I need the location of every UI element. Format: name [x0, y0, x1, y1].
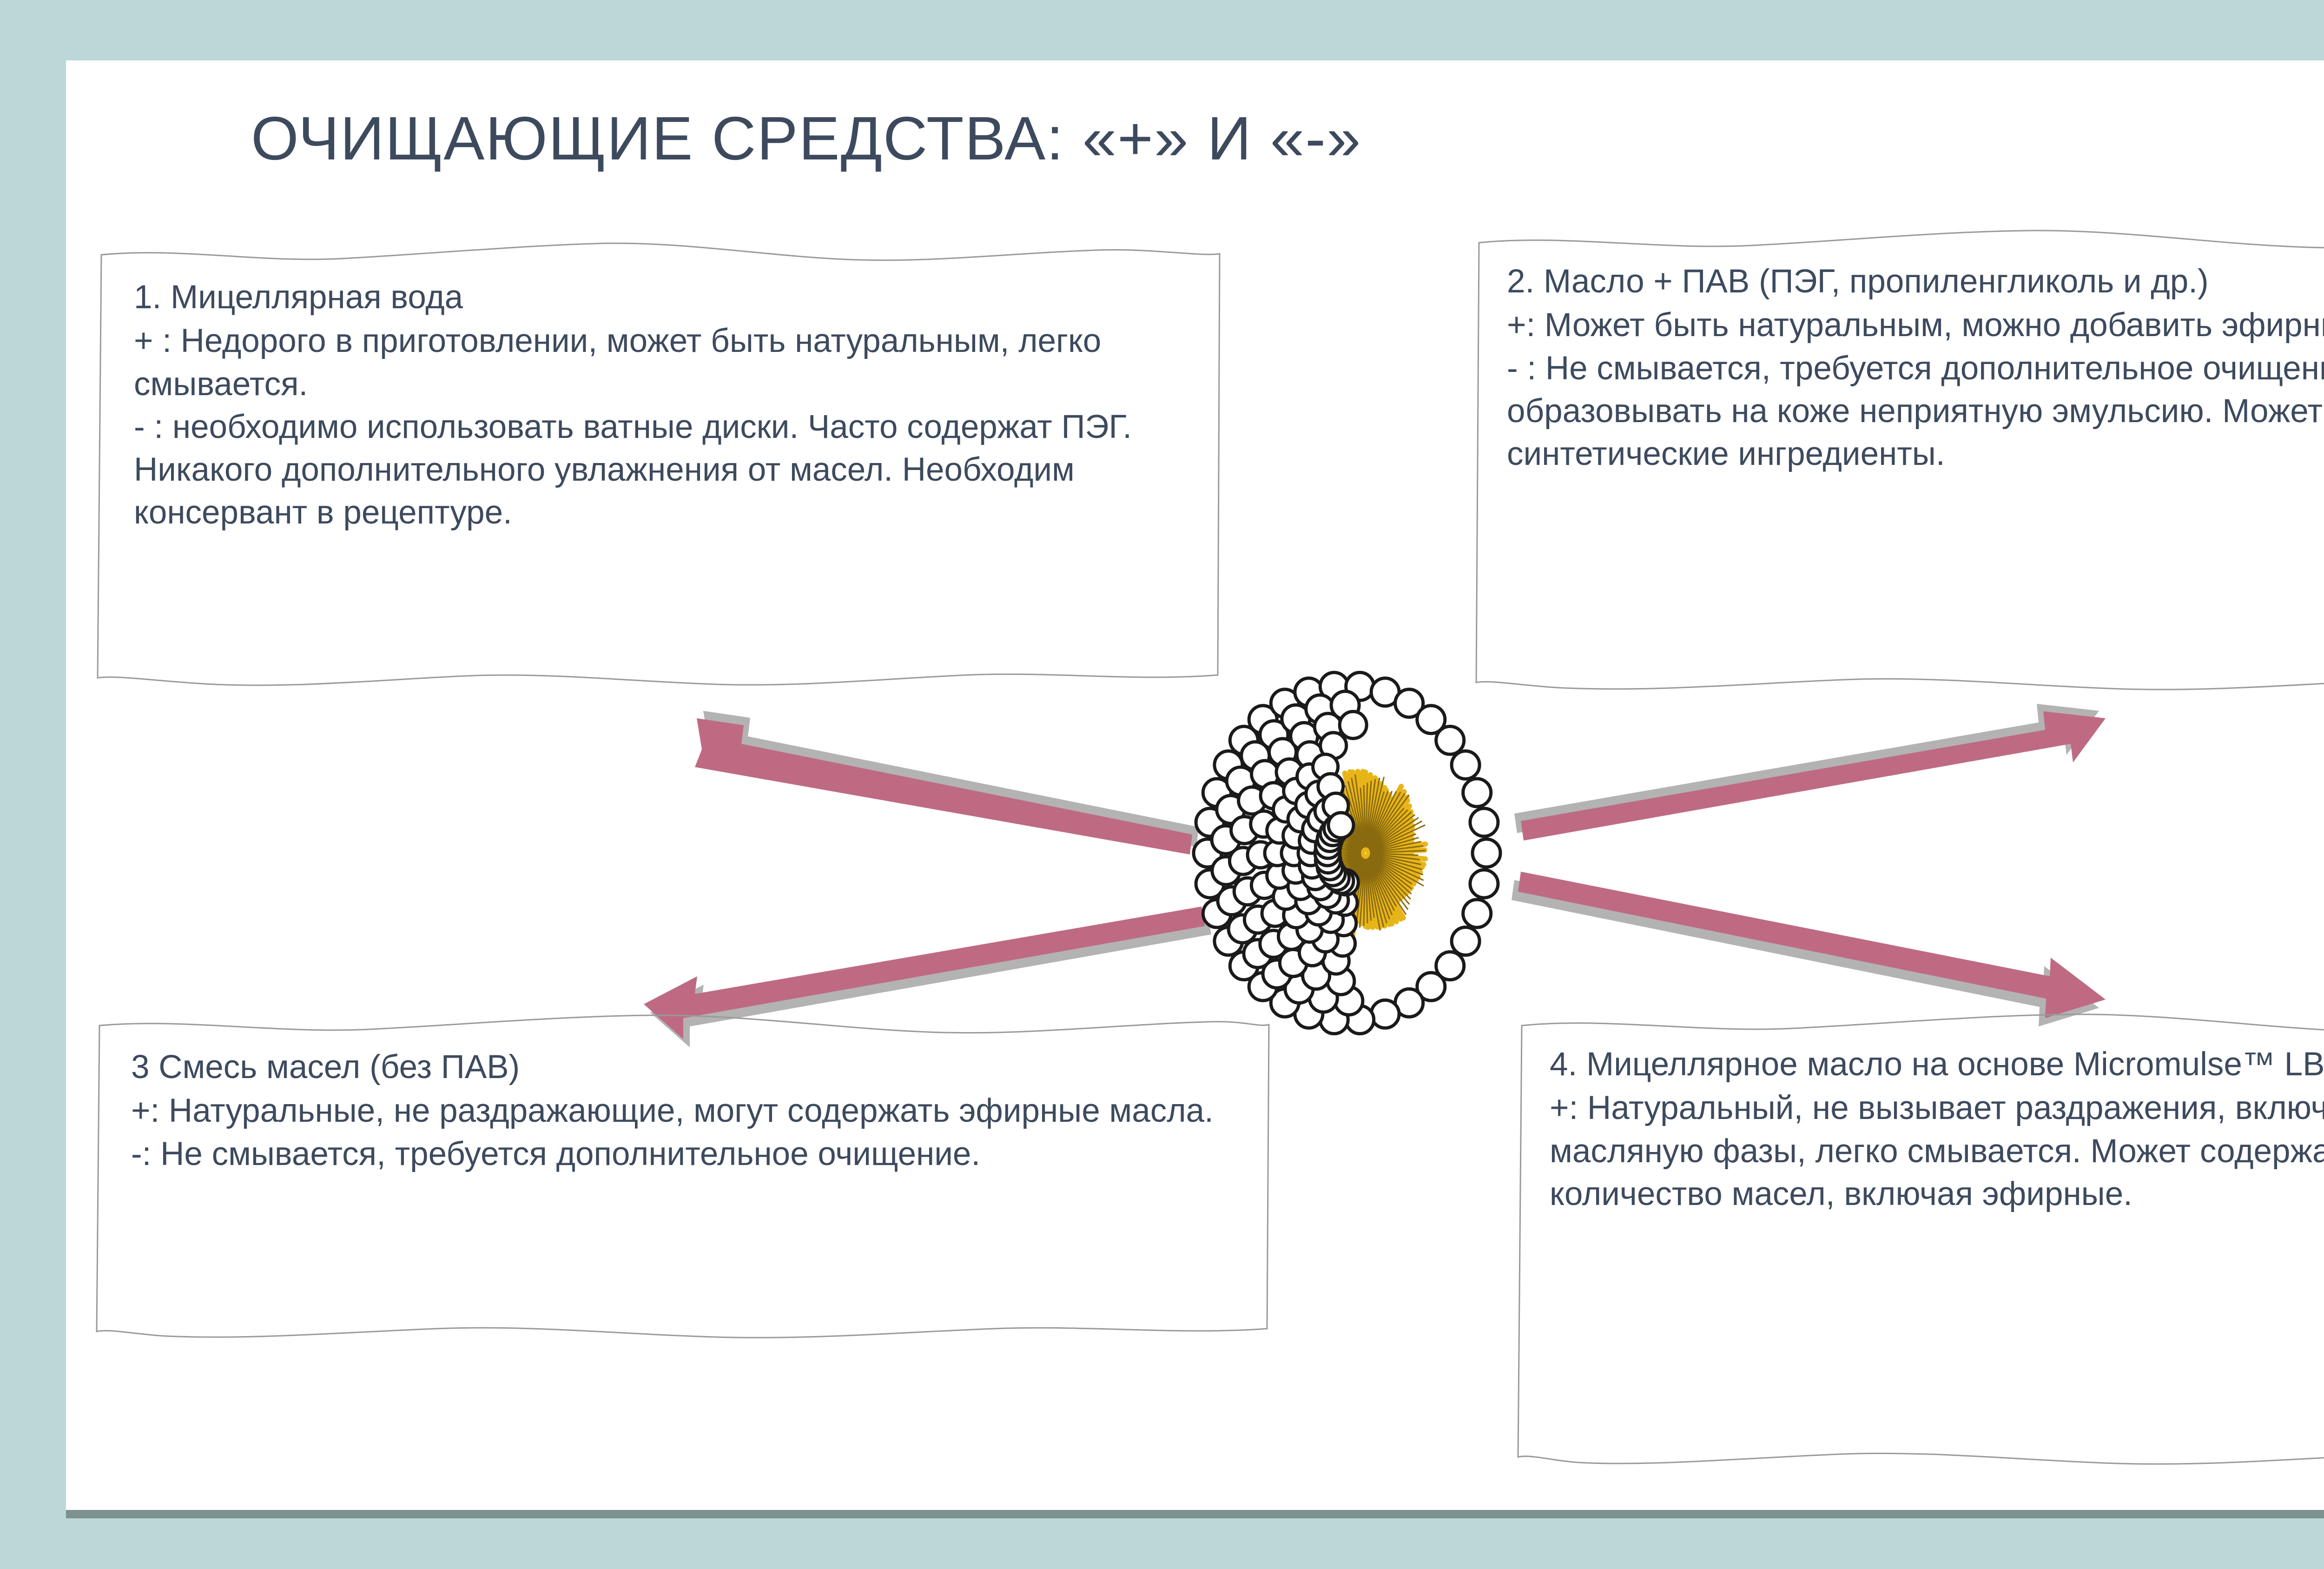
micelle-illustration: [1184, 665, 1510, 1041]
box-2-cons: - : Не смывается, требуется дополнительн…: [1507, 347, 2324, 476]
box-3-text: 3 Смесь масел (без ПАВ) +: Натуральные, …: [92, 1014, 1273, 1176]
box-2-text: 2. Масло + ПАВ (ПЭГ, пропиленгликоль и д…: [1472, 229, 2324, 476]
info-box-1: 1. Мицеллярная вода + : Недорого в приго…: [93, 243, 1223, 689]
info-box-4: 4. Мицеллярное масло на основе Micromuls…: [1514, 1013, 2324, 1468]
box-4-text: 4. Мицеллярное масло на основе Micromuls…: [1514, 1013, 2324, 1216]
page-title: ОЧИЩАЮЩИЕ СРЕДСТВА: «+» И «-»: [251, 105, 1361, 172]
box-1-title: 1. Мицеллярная вода: [134, 276, 1207, 319]
box-2-title: 2. Масло + ПАВ (ПЭГ, пропиленгликоль и д…: [1507, 260, 2324, 303]
info-box-2: 2. Масло + ПАВ (ПЭГ, пропиленгликоль и д…: [1472, 229, 2324, 694]
box-4-title: 4. Мицеллярное масло на основе Micromuls…: [1550, 1043, 2324, 1086]
box-1-cons: - : необходимо использовать ватные диски…: [134, 406, 1207, 535]
box-2-pros: +: Может быть натуральным, можно добавит…: [1507, 304, 2324, 347]
box-1-pros: + : Недорого в приготовлении, может быть…: [134, 320, 1207, 406]
info-box-3: 3 Смесь масел (без ПАВ) +: Натуральные, …: [92, 1014, 1273, 1340]
box-1-text: 1. Мицеллярная вода + : Недорого в приго…: [93, 243, 1223, 535]
box-3-cons: -: Не смывается, требуется дополнительно…: [131, 1133, 1256, 1176]
box-3-pros: +: Натуральные, не раздражающие, могут с…: [131, 1090, 1256, 1132]
box-4-pros: +: Натуральный, не вызывает раздражения,…: [1550, 1087, 2324, 1216]
box-3-title: 3 Смесь масел (без ПАВ): [131, 1046, 1256, 1089]
slide-card-shadow: [66, 1510, 2324, 1518]
